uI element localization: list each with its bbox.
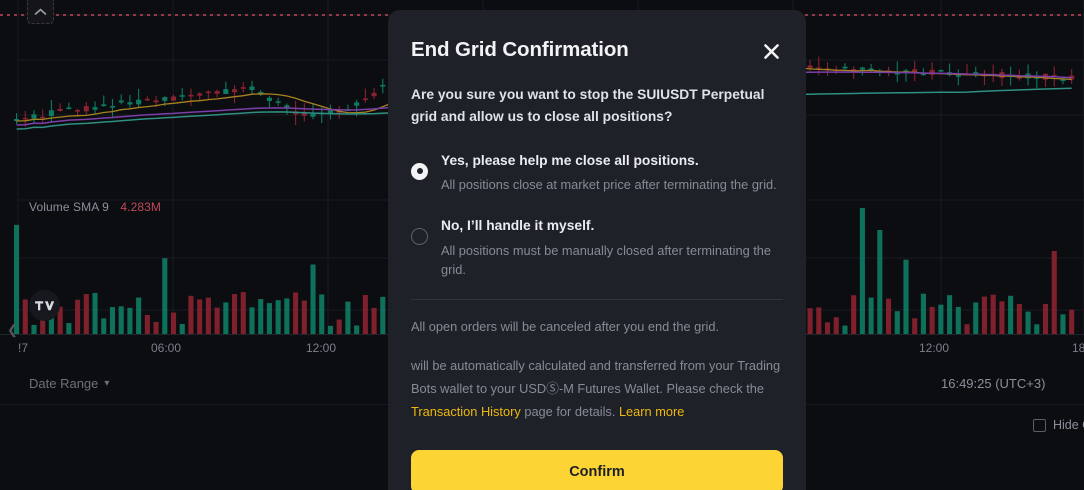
volume-sma-legend: Volume SMA 9 4.283M (29, 200, 161, 214)
collapse-panel-button[interactable] (27, 0, 54, 24)
option-no-description: All positions must be manually closed af… (441, 241, 783, 279)
volume-sma-value: 4.283M (120, 200, 161, 214)
dialog-header: End Grid Confirmation (411, 38, 783, 63)
transfer-note-text-2: -M Futures Wallet. Please check the (559, 381, 764, 396)
chart-clock: 16:49:25 (UTC+3) (941, 376, 1045, 391)
tradingview-glyph-icon (35, 300, 54, 312)
date-range-label: Date Range (29, 376, 98, 391)
learn-more-link[interactable]: Learn more (619, 404, 684, 419)
open-orders-note: All open orders will be canceled after y… (411, 317, 783, 337)
chevron-up-icon (34, 8, 47, 16)
confirm-button[interactable]: Confirm (411, 450, 783, 490)
hide-checkbox-label: Hide C (1053, 418, 1084, 432)
chevron-down-icon: ▾ (104, 378, 109, 389)
close-x-glyph-icon (763, 43, 780, 60)
radio-no-handle-myself[interactable] (411, 228, 428, 245)
time-axis-label: !7 (18, 341, 28, 355)
date-range-dropdown[interactable]: Date Range ▾ (29, 376, 109, 391)
transfer-note-text-3: page for details. (521, 404, 619, 419)
dialog-title: End Grid Confirmation (411, 38, 629, 62)
volume-sma-label: Volume SMA 9 (29, 200, 109, 214)
end-grid-confirmation-dialog: End Grid Confirmation Are you sure you w… (388, 10, 806, 490)
time-axis-label: 12:00 (919, 341, 949, 355)
dialog-subtitle: Are you sure you want to stop the SUIUSD… (411, 84, 783, 129)
option-no-handle-myself[interactable]: No, I’ll handle it myself. All positions… (411, 214, 783, 279)
section-divider (411, 299, 783, 300)
option-no-title: No, I’ll handle it myself. (441, 215, 783, 236)
time-axis-label: 12:00 (306, 341, 336, 355)
option-yes-description: All positions close at market price afte… (441, 175, 777, 194)
close-icon[interactable] (759, 39, 783, 63)
hide-checkbox[interactable] (1033, 419, 1046, 432)
time-axis-label: 18 (1072, 341, 1084, 355)
hide-checkbox-row[interactable]: Hide C (1033, 418, 1084, 432)
usds-circled-s-icon: Ⓢ (546, 382, 559, 397)
tradingview-logo-icon[interactable] (29, 290, 60, 321)
close-positions-option-group: Yes, please help me close all positions.… (411, 149, 783, 279)
radio-yes-close-all[interactable] (411, 163, 428, 180)
transaction-history-link[interactable]: Transaction History (411, 404, 521, 419)
chart-scroll-left-icon[interactable]: ❮ (7, 323, 18, 336)
option-yes-close-all[interactable]: Yes, please help me close all positions.… (411, 149, 783, 195)
transfer-note: will be automatically calculated and tra… (411, 355, 783, 424)
time-axis-label: 06:00 (151, 341, 181, 355)
option-yes-title: Yes, please help me close all positions. (441, 150, 777, 171)
